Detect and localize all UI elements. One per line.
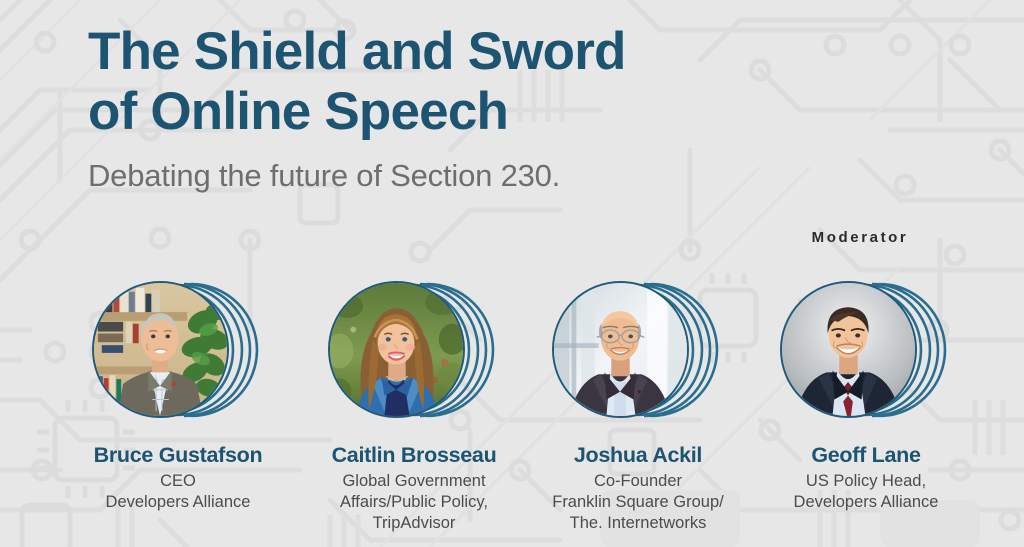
header: The Shield and Sword of Online Speech De… <box>88 22 626 194</box>
avatar <box>328 281 465 418</box>
avatar <box>552 281 689 418</box>
portrait-wrap <box>82 270 274 430</box>
portrait-photo <box>330 283 463 416</box>
portrait-photo <box>554 283 687 416</box>
speaker-role: Co-Founder Franklin Square Group/ The. I… <box>552 471 724 534</box>
portrait-photo <box>782 283 915 416</box>
avatar <box>92 281 229 418</box>
speaker-name: Caitlin Brosseau <box>332 444 497 468</box>
portrait-wrap <box>318 270 510 430</box>
speaker-role: US Policy Head, Developers Alliance <box>794 471 939 513</box>
page-title: The Shield and Sword of Online Speech <box>88 22 626 142</box>
speaker-name: Bruce Gustafson <box>94 444 263 468</box>
speaker-card-joshua-ackil[interactable]: Joshua Ackil Co-Founder Franklin Square … <box>526 270 750 534</box>
speaker-role: Global Government Affairs/Public Policy,… <box>340 471 488 534</box>
speaker-card-bruce-gustafson[interactable]: Bruce Gustafson CEO Developers Alliance <box>54 270 302 534</box>
portrait-photo <box>94 283 227 416</box>
speaker-card-caitlin-brosseau[interactable]: Caitlin Brosseau Global Government Affai… <box>302 270 526 534</box>
avatar <box>780 281 917 418</box>
portrait-wrap <box>770 270 962 430</box>
speakers-row: Bruce Gustafson CEO Developers Alliance <box>0 270 1024 534</box>
speaker-card-geoff-lane[interactable]: Geoff Lane US Policy Head, Developers Al… <box>750 270 982 534</box>
speaker-name: Geoff Lane <box>811 444 920 468</box>
portrait-wrap <box>542 270 734 430</box>
speaker-name: Joshua Ackil <box>574 444 702 468</box>
speaker-role: CEO Developers Alliance <box>106 471 251 513</box>
moderator-label: Moderator <box>754 229 966 246</box>
page-subtitle: Debating the future of Section 230. <box>88 158 626 194</box>
